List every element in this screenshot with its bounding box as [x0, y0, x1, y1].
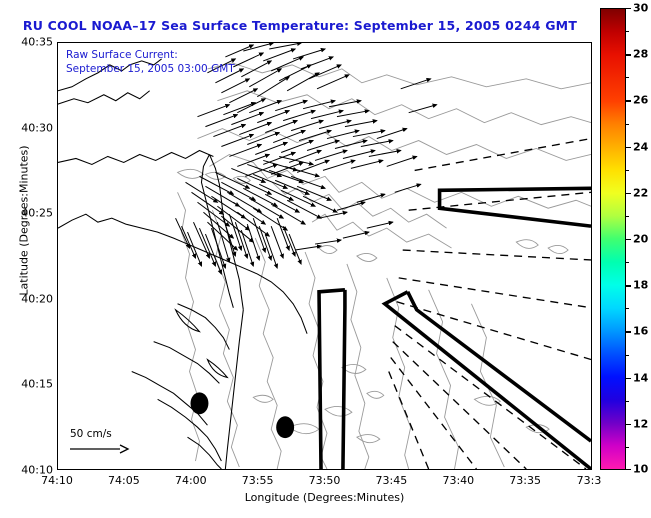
colorbar-tick-label: 26: [633, 94, 648, 107]
colorbar-tick-label: 30: [633, 2, 648, 15]
coastline-layer: [58, 59, 307, 469]
x-tick-label: 73:55: [242, 474, 274, 487]
colorbar-tick-label: 28: [633, 48, 648, 61]
x-tick-label: 74:05: [108, 474, 140, 487]
x-axis-ticks: 74:10 74:05 74:00 73:55 73:50 73:45 73:4…: [57, 474, 592, 490]
x-tick-label: 73:45: [376, 474, 408, 487]
map-canvas: [58, 43, 591, 469]
current-annotation: Raw Surface Current: September 15, 2005 …: [66, 48, 235, 76]
colorbar-tick-label: 24: [633, 140, 648, 153]
colorbar-tick-label: 14: [633, 371, 648, 384]
current-vector-layer: [176, 43, 437, 274]
y-axis-title: Latitude (Degrees:Minutes): [18, 111, 31, 331]
x-tick-label: 73:40: [442, 474, 474, 487]
colorbar-tick-label: 22: [633, 186, 648, 199]
colorbar-tick-label: 12: [633, 417, 648, 430]
x-tick-label: 74:00: [175, 474, 207, 487]
x-tick-label: 73:50: [309, 474, 341, 487]
x-tick-label: 74:10: [41, 474, 73, 487]
x-tick-label: 73:35: [509, 474, 541, 487]
annotation-line-1: Raw Surface Current:: [66, 48, 235, 62]
sst-figure: RU COOL NOAA–17 Sea Surface Temperature:…: [0, 0, 651, 518]
x-tick-label: 73:3: [577, 474, 602, 487]
station-marker: [191, 392, 209, 414]
map-plot-area: Raw Surface Current: September 15, 2005 …: [57, 42, 592, 470]
annotation-line-2: September 15, 2005 03:00 GMT: [66, 62, 235, 76]
station-markers-layer: [191, 392, 295, 438]
scalebar: 50 cm/s: [64, 428, 174, 459]
right-arrow-icon: [68, 443, 130, 455]
colorbar-gradient: [600, 8, 626, 470]
colorbar-tick-label: 18: [633, 279, 648, 292]
colorbar-tick-label: 20: [633, 233, 648, 246]
page-title: RU COOL NOAA–17 Sea Surface Temperature:…: [0, 18, 600, 33]
y-tick-label: 40:15: [3, 378, 53, 391]
colorbar-tick-label: 16: [633, 325, 648, 338]
y-tick-label: 40:35: [3, 36, 53, 49]
colorbar: 30 28 26 24 22 20 18 16 14 12 10: [600, 8, 626, 470]
x-axis-title: Longitude (Degrees:Minutes): [57, 491, 592, 504]
station-marker: [276, 416, 294, 438]
colorbar-tick-label: 10: [633, 463, 648, 476]
scalebar-label: 50 cm/s: [70, 428, 174, 440]
